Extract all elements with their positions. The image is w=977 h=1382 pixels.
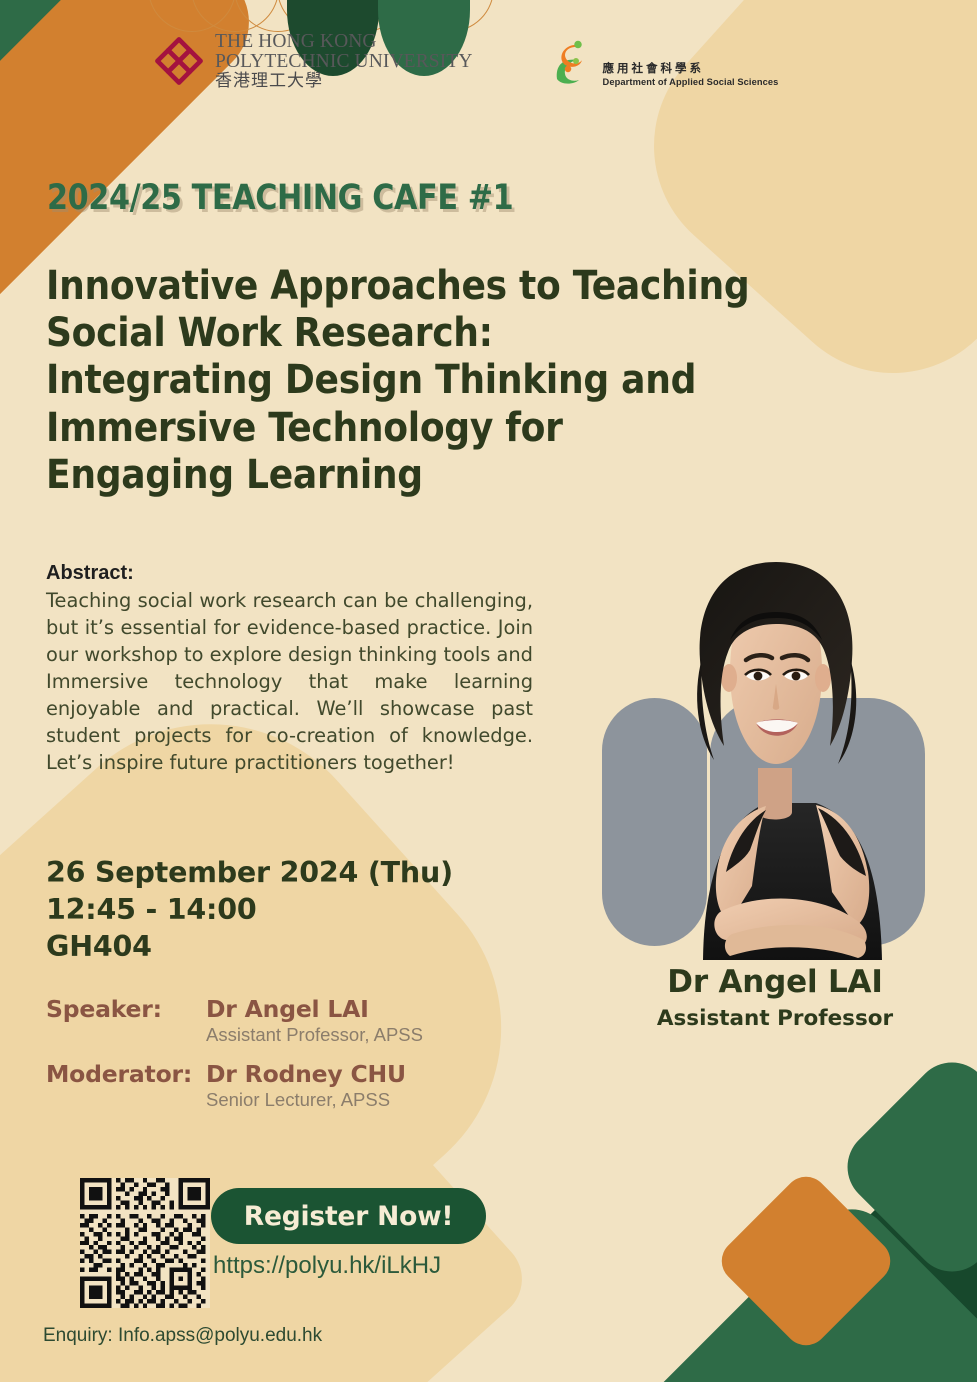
event-date: 26 September 2024 (Thu) (46, 855, 453, 892)
registration-url[interactable]: https://polyu.hk/iLkHJ (213, 1252, 441, 1280)
apss-s-figure-logo-icon (547, 36, 597, 90)
speaker-name: Dr Angel LAI (206, 995, 369, 1023)
portrait-role: Assistant Professor (580, 1006, 970, 1031)
people-section: Speaker: Dr Angel LAI Assistant Professo… (46, 995, 423, 1111)
abstract-body: Teaching social work research can be cha… (46, 588, 533, 777)
abstract-heading: Abstract: (46, 562, 533, 585)
poster-canvas: THE HONG KONG POLYTECHNIC UNIVERSITY 香港理… (0, 0, 977, 1382)
apss-name-chinese: 應用社會科學系 (603, 62, 779, 75)
polyu-name-line1: THE HONG KONG (215, 32, 473, 52)
portrait-name: Dr Angel LAI (580, 964, 970, 1000)
speaker-portrait-photo (580, 520, 970, 960)
event-time: 12:45 - 14:00 (46, 892, 453, 929)
title-line: Engaging Learning (46, 451, 798, 498)
speaker-label: Speaker: (46, 995, 206, 1023)
series-kicker: 2024/25 TEACHING CAFE #1 (47, 178, 513, 218)
speaker-title: Assistant Professor, APSS (206, 1024, 423, 1046)
event-details: 26 September 2024 (Thu) 12:45 - 14:00 GH… (46, 855, 453, 965)
title-line: Social Work Research: (46, 309, 798, 356)
qr-code-graphic (80, 1178, 210, 1308)
portrait-frame (580, 520, 970, 960)
title-line: Integrating Design Thinking and (46, 356, 798, 403)
logo-row: THE HONG KONG POLYTECHNIC UNIVERSITY 香港理… (152, 32, 778, 91)
moderator-label: Moderator: (46, 1060, 206, 1088)
moderator-name: Dr Rodney CHU (206, 1060, 406, 1088)
moderator-title: Senior Lecturer, APSS (206, 1089, 423, 1111)
page-title: Innovative Approaches to Teaching Social… (46, 262, 798, 498)
registration-qr-code[interactable] (80, 1178, 210, 1308)
abstract-section: Abstract: Teaching social work research … (46, 562, 533, 777)
poster-content: THE HONG KONG POLYTECHNIC UNIVERSITY 香港理… (0, 0, 977, 1382)
polyu-name-line2: POLYTECHNIC UNIVERSITY (215, 52, 473, 72)
apss-name-english: Department of Applied Social Sciences (603, 77, 779, 88)
register-now-button[interactable]: Register Now! (211, 1188, 486, 1244)
event-venue: GH404 (46, 929, 453, 966)
moderator-row: Moderator: Dr Rodney CHU (46, 1060, 423, 1088)
title-line: Innovative Approaches to Teaching (46, 262, 798, 309)
speaker-portrait-block: Dr Angel LAI Assistant Professor (580, 520, 970, 1031)
polyu-name-chinese: 香港理工大學 (215, 73, 473, 91)
title-line: Immersive Technology for (46, 404, 798, 451)
polyu-knot-logo-icon (152, 33, 206, 89)
speaker-row: Speaker: Dr Angel LAI (46, 995, 423, 1023)
apss-logo: 應用社會科學系 Department of Applied Social Sci… (547, 32, 779, 90)
polyu-logo: THE HONG KONG POLYTECHNIC UNIVERSITY 香港理… (152, 32, 473, 91)
enquiry-line: Enquiry: Info.apss@polyu.edu.hk (43, 1325, 322, 1347)
